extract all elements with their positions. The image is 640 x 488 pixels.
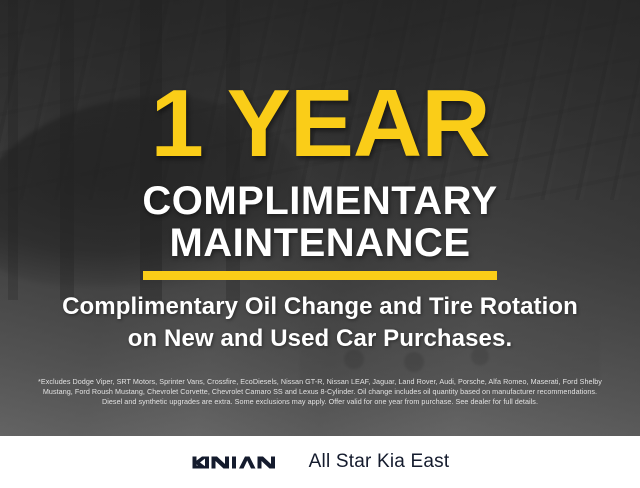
hero-content: 1 YEAR COMPLIMENTARY MAINTENANCE Complim…	[0, 0, 640, 436]
offer-description-line-1: Complimentary Oil Change and Tire Rotati…	[62, 293, 578, 320]
disclaimer-text: *Excludes Dodge Viper, SRT Motors, Sprin…	[14, 377, 626, 407]
disclaimer-line-2: Mustang, Ford Roush Mustang, Chevrolet C…	[14, 387, 626, 397]
headline-subtitle-line-2: MAINTENANCE	[0, 222, 640, 264]
dealer-name: All Star Kia East	[309, 451, 450, 473]
hero-photo-area: 1 YEAR COMPLIMENTARY MAINTENANCE Complim…	[0, 0, 640, 436]
headline-subtitle: COMPLIMENTARY MAINTENANCE	[0, 180, 640, 264]
headline-subtitle-line-1: COMPLIMENTARY	[142, 179, 497, 223]
disclaimer-line-1: *Excludes Dodge Viper, SRT Motors, Sprin…	[14, 377, 626, 387]
service-offer-banner: 1 YEAR COMPLIMENTARY MAINTENANCE Complim…	[0, 0, 640, 488]
offer-description: Complimentary Oil Change and Tire Rotati…	[0, 291, 640, 355]
disclaimer-line-3: Diesel and synthetic upgrades are extra.…	[14, 397, 626, 407]
offer-description-line-2: on New and Used Car Purchases.	[0, 323, 640, 355]
yellow-divider-bar	[143, 271, 497, 280]
headline-year: 1 YEAR	[0, 76, 640, 172]
footer-bar: All Star Kia East	[0, 436, 640, 488]
kia-logo	[191, 450, 287, 475]
